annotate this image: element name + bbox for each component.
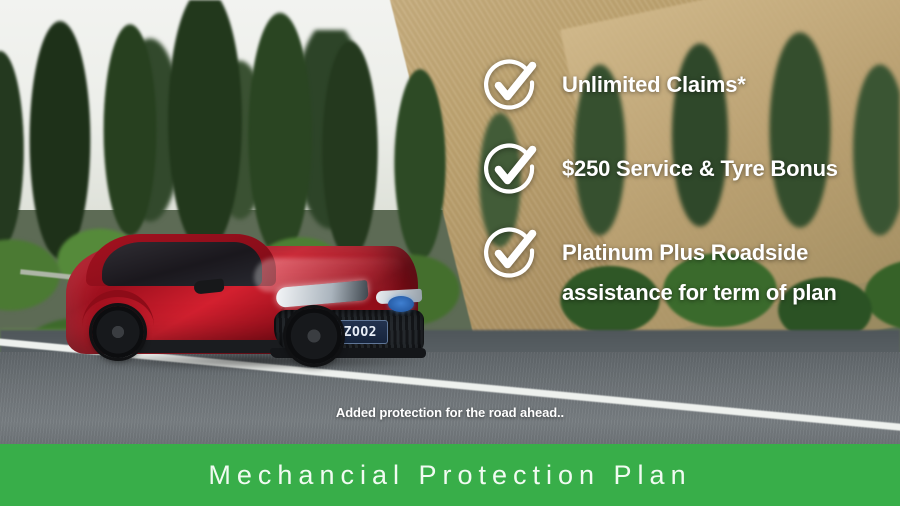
check-circle-icon xyxy=(482,224,540,282)
feature-item: Unlimited Claims* xyxy=(482,62,882,114)
red-car: GAZOO2 xyxy=(58,228,428,378)
feature-text: Platinum Plus Roadside assistance for te… xyxy=(562,230,837,304)
check-circle-icon xyxy=(482,56,540,114)
mechanical-protection-plan-ad: GAZOO2 Unlimited Claims* xyxy=(0,0,900,506)
feature-text: Unlimited Claims* xyxy=(562,62,746,96)
brand-emblem-icon xyxy=(388,296,414,312)
feature-line-2: assistance for term of plan xyxy=(562,282,837,304)
feature-line-1: Platinum Plus Roadside xyxy=(562,240,808,265)
feature-item: $250 Service & Tyre Bonus xyxy=(482,146,882,198)
car-windows xyxy=(102,242,262,286)
check-circle-icon xyxy=(482,140,540,198)
feature-item: Platinum Plus Roadside assistance for te… xyxy=(482,230,882,304)
rear-wheel xyxy=(92,306,144,358)
feature-list: Unlimited Claims* $250 Service & Tyre Bo… xyxy=(482,62,882,304)
bottom-green-bar: Mechancial Protection Plan xyxy=(0,444,900,506)
feature-line-1: Unlimited Claims* xyxy=(562,72,746,97)
feature-line-1: $250 Service & Tyre Bonus xyxy=(562,156,838,181)
feature-text: $250 Service & Tyre Bonus xyxy=(562,146,838,180)
plan-title: Mechancial Protection Plan xyxy=(208,460,691,491)
front-wheel xyxy=(286,308,342,364)
tagline: Added protection for the road ahead.. xyxy=(0,405,900,420)
